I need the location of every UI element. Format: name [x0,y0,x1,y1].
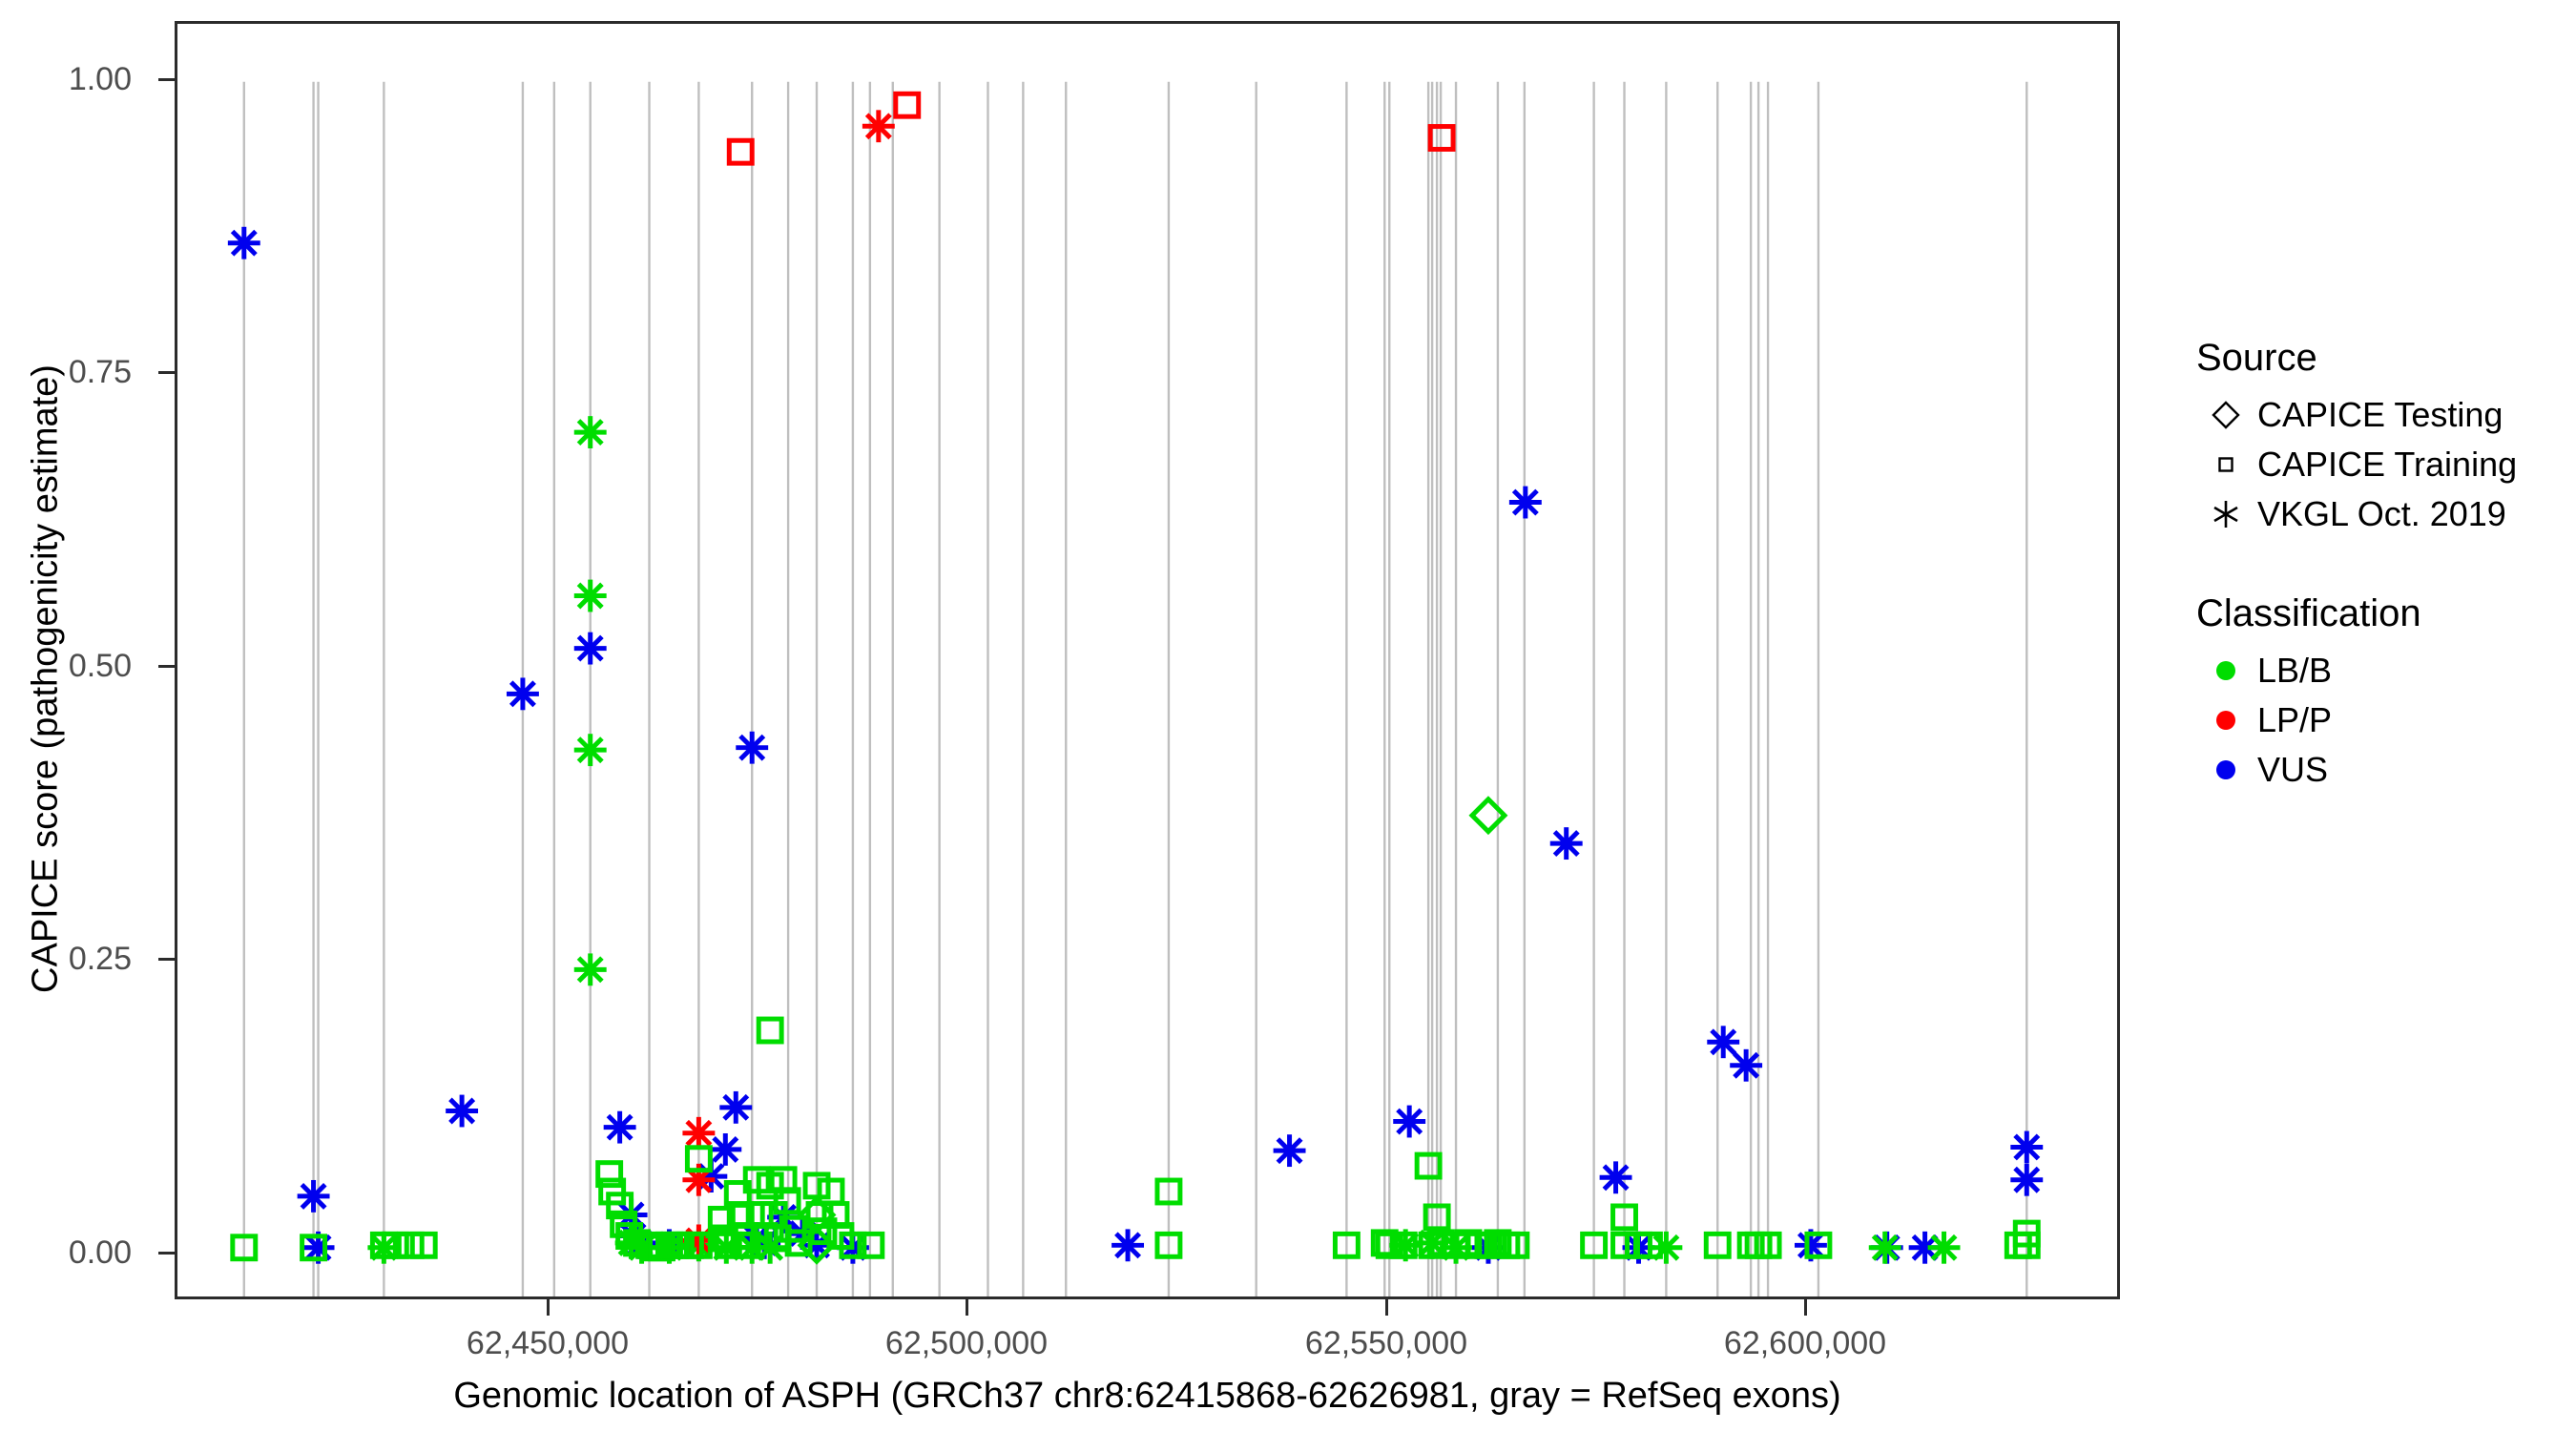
legend: Source CAPICE Testing CAPICE Training [2194,339,2576,850]
x-tick-mark [1385,1299,1388,1316]
data-point [709,1133,741,1166]
circle-icon-lpp [2194,706,2257,735]
data-point [1707,1026,1739,1058]
x-tick-label: 62,500,000 [885,1325,1048,1362]
data-point [758,1019,781,1042]
data-point [2010,1131,2043,1164]
data-point [1393,1106,1425,1138]
legend-label: VKGL Oct. 2019 [2257,494,2506,534]
legend-title-source: Source [2196,339,2576,377]
data-point [446,1095,478,1128]
legend-label: LB/B [2257,651,2332,691]
data-point [2010,1164,2043,1196]
x-tick-mark [1804,1299,1807,1316]
data-point [507,677,539,710]
data-point [1928,1232,1961,1264]
refseq-exon-lines [244,82,2026,1296]
legend-label: VUS [2257,750,2328,790]
data-point [896,93,919,116]
data-point [574,416,607,448]
y-tick-mark [158,958,175,961]
data-point [820,1180,842,1203]
data-point [1600,1161,1632,1193]
legend-item-capice-testing[interactable]: CAPICE Testing [2194,390,2576,440]
data-point [574,734,607,766]
x-tick-label: 62,550,000 [1305,1325,1467,1362]
x-tick-label: 62,600,000 [1724,1325,1886,1362]
x-tick-label: 62,450,000 [467,1325,629,1362]
asterisk-icon [2194,497,2257,531]
y-tick-label: 0.50 [69,650,132,682]
data-point [1509,487,1542,519]
legend-group-source: Source CAPICE Testing CAPICE Training [2194,339,2576,539]
legend-item-vkgl[interactable]: VKGL Oct. 2019 [2194,489,2576,539]
data-point [298,1180,330,1213]
y-tick-mark [158,78,175,81]
diamond-icon [2194,399,2257,431]
legend-group-classification: Classification LB/B LP/P VUS [2194,594,2576,795]
data-point [736,732,768,764]
y-tick-label: 0.00 [69,1236,132,1269]
chart-root: 1.00 0.75 0.50 0.25 0.00 CAPICE score (p… [0,0,2576,1431]
data-point [574,633,607,665]
plot-panel [175,21,2120,1299]
data-point [1730,1049,1762,1082]
y-axis-title: CAPICE score (pathogenicity estimate) [26,202,67,1156]
x-tick-mark [547,1299,550,1316]
legend-label: LP/P [2257,700,2332,740]
legend-label: CAPICE Training [2257,445,2517,485]
data-point [604,1111,636,1144]
data-point [1111,1229,1144,1261]
data-point [574,953,607,985]
data-point [1869,1232,1901,1264]
square-icon [2194,448,2257,481]
y-tick-label: 1.00 [69,63,132,95]
circle-icon-lbb [2194,656,2257,685]
data-point [862,110,895,142]
legend-title-classification: Classification [2196,594,2576,633]
x-axis-title: Genomic location of ASPH (GRCh37 chr8:62… [175,1376,2120,1417]
data-point [719,1091,752,1124]
legend-item-lbb[interactable]: LB/B [2194,646,2576,695]
data-point [729,140,752,163]
data-point [1550,827,1583,860]
y-tick-label: 0.25 [69,943,132,975]
data-point [682,1117,715,1150]
legend-item-capice-training[interactable]: CAPICE Training [2194,440,2576,489]
data-point [1472,799,1505,832]
data-point [1274,1134,1306,1167]
circle-icon-vus [2194,756,2257,784]
data-points-layer [228,93,2043,1263]
y-tick-mark [158,665,175,668]
y-tick-mark [158,371,175,374]
x-tick-mark [966,1299,968,1316]
y-tick-label: 0.75 [69,356,132,388]
data-point [228,227,260,259]
y-tick-mark [158,1252,175,1255]
legend-label: CAPICE Testing [2257,395,2503,435]
legend-item-vus[interactable]: VUS [2194,745,2576,795]
legend-item-lpp[interactable]: LP/P [2194,695,2576,745]
data-point [574,580,607,612]
scatter-plot-canvas [177,24,2117,1296]
